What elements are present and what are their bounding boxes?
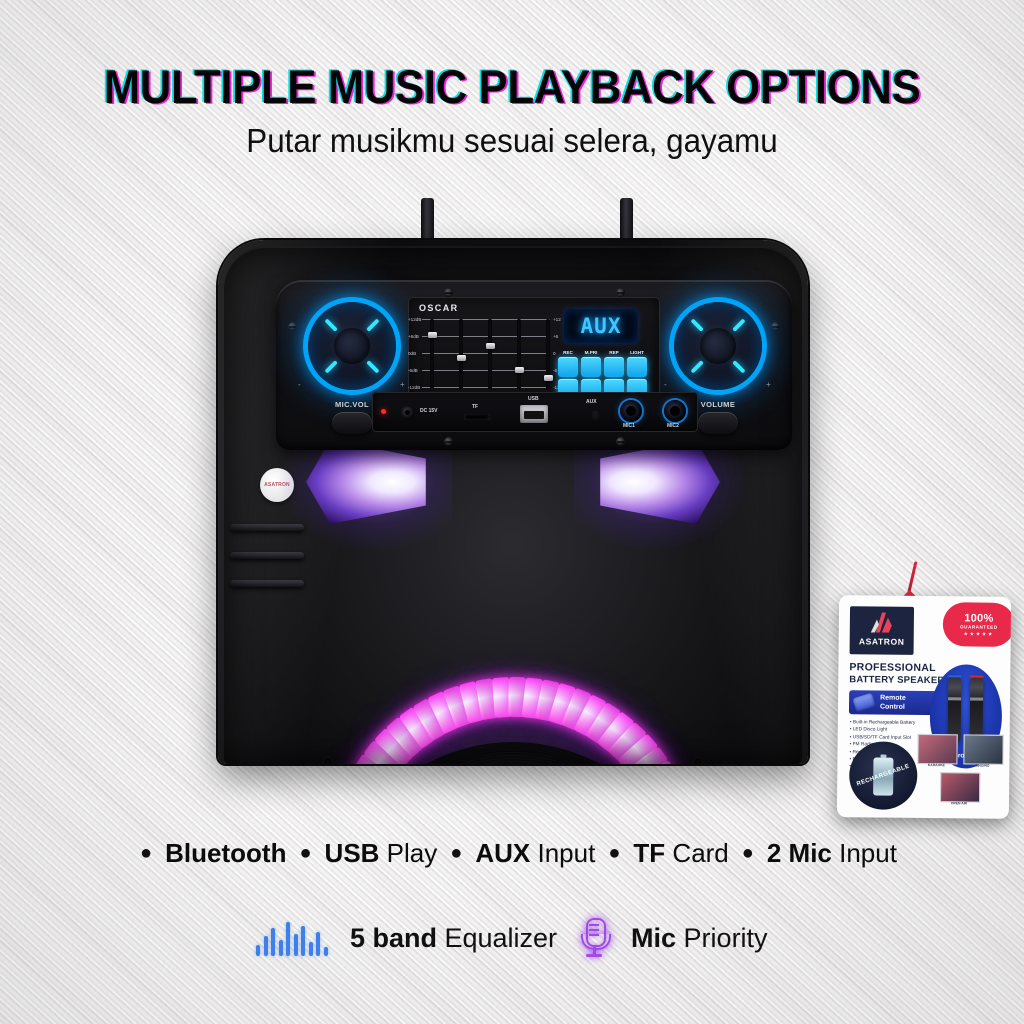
equalizer-bar	[271, 928, 275, 956]
mic-icon-arc	[581, 934, 611, 950]
asatron-logo-mark	[869, 611, 895, 633]
mic-icon-bar	[589, 924, 599, 926]
thumbnail-caption: KARAOKE	[917, 763, 955, 767]
usage-thumbnail	[917, 734, 957, 764]
feature-keyword: Bluetooth	[165, 838, 286, 868]
feature-item: TF Card	[633, 838, 728, 869]
feature-keyword: USB	[325, 838, 380, 868]
equalizer-text: 5 band Equalizer	[350, 923, 557, 954]
tag-title-line1: PROFESSIONAL	[849, 661, 936, 674]
thumbnail-image	[964, 735, 1002, 763]
remote-label-line1: Remote	[880, 694, 906, 703]
equalizer-bar	[294, 934, 298, 956]
feature-suffix: Input	[530, 838, 595, 868]
feature-item: Bluetooth	[165, 838, 286, 869]
bullet-icon: ●	[140, 842, 152, 865]
guarantee-badge: 100% GUARANTEED ★★★★★	[943, 602, 1012, 647]
bullet-icon: ●	[299, 842, 311, 865]
feature-item: 2 Mic Input	[767, 838, 897, 869]
thumbnail-caption: SINGING	[963, 763, 1001, 767]
microphone-icon	[579, 918, 609, 958]
mic-cap-red	[970, 675, 983, 677]
bottom-feature-row: 5 band Equalizer Mic Priority	[0, 918, 1024, 958]
product-image: ASATRON	[198, 198, 828, 764]
feature-item: USB Play	[325, 838, 438, 869]
equalizer-icon	[256, 920, 328, 956]
mic-ring	[970, 697, 983, 700]
rechargeable-badge: RECHARGEABLE	[849, 741, 918, 810]
feature-item: AUX Input	[475, 838, 595, 869]
usage-thumbnail	[963, 734, 1003, 764]
usage-thumbnails: KARAOKESINGINGOPEN AIR	[917, 734, 1004, 813]
equalizer-bar	[286, 922, 290, 956]
microphone-left	[948, 675, 962, 741]
feature-suffix: Play	[379, 838, 437, 868]
mic-priority-rest: Priority	[676, 923, 768, 953]
asatron-logo-text: ASATRON	[850, 636, 914, 647]
hangtag: ASATRON 100% GUARANTEED ★★★★★ PROFESSION…	[837, 595, 1011, 819]
badge-stars: ★★★★★	[964, 631, 994, 637]
equalizer-bar	[324, 947, 328, 956]
feature-list-row: ●Bluetooth●USB Play●AUX Input●TF Card●2 …	[0, 838, 1024, 869]
antenna-left	[421, 198, 434, 244]
equalizer-bar	[301, 926, 305, 956]
feature-keyword: 2 Mic	[767, 838, 832, 868]
equalizer-bar	[264, 936, 268, 956]
equalizer-rest: Equalizer	[437, 923, 557, 953]
equalizer-bar	[279, 940, 283, 956]
remote-label: Remote Control	[880, 694, 906, 712]
remote-label-line2: Control	[880, 703, 906, 712]
microphone-right	[970, 675, 984, 741]
feature-keyword: TF	[633, 838, 665, 868]
equalizer-bar	[316, 932, 320, 956]
mic-priority-text: Mic Priority	[631, 923, 768, 954]
tag-title-line2: BATTERY SPEAKER	[849, 674, 944, 686]
mic-priority-bold: Mic	[631, 923, 676, 953]
bullet-icon: ●	[608, 842, 620, 865]
badge-percent: 100%	[964, 612, 993, 624]
cabinet-edge	[224, 246, 802, 764]
speaker-cabinet: ASATRON	[218, 240, 808, 764]
usage-thumbnail	[940, 772, 980, 802]
equalizer-bar	[309, 942, 313, 956]
thumbnail-caption: OPEN AIR	[940, 801, 978, 805]
remote-icon	[852, 693, 875, 712]
mic-icon-base	[586, 954, 602, 957]
mic-cap-blue	[948, 675, 961, 677]
headline-block: MULTIPLE MUSIC PLAYBACK OPTIONS Putar mu…	[0, 62, 1024, 160]
page-subtitle: Putar musikmu sesuai selera, gayamu	[26, 122, 999, 160]
feature-keyword: AUX	[475, 838, 530, 868]
mic-icon-bar	[589, 929, 599, 931]
asatron-logo: ASATRON	[850, 606, 914, 655]
thumbnail-image	[941, 773, 979, 801]
feature-suffix: Input	[832, 838, 897, 868]
page-title: MULTIPLE MUSIC PLAYBACK OPTIONS	[36, 62, 988, 111]
mic-ring	[948, 697, 961, 700]
bullet-icon: ●	[450, 842, 462, 865]
thumbnail-image	[918, 735, 956, 763]
feature-suffix: Card	[665, 838, 729, 868]
bullet-icon: ●	[742, 842, 754, 865]
equalizer-bold: 5 band	[350, 923, 437, 953]
antenna-right	[620, 198, 633, 244]
equalizer-bar	[256, 945, 260, 956]
badge-label: GUARANTEED	[960, 624, 997, 629]
